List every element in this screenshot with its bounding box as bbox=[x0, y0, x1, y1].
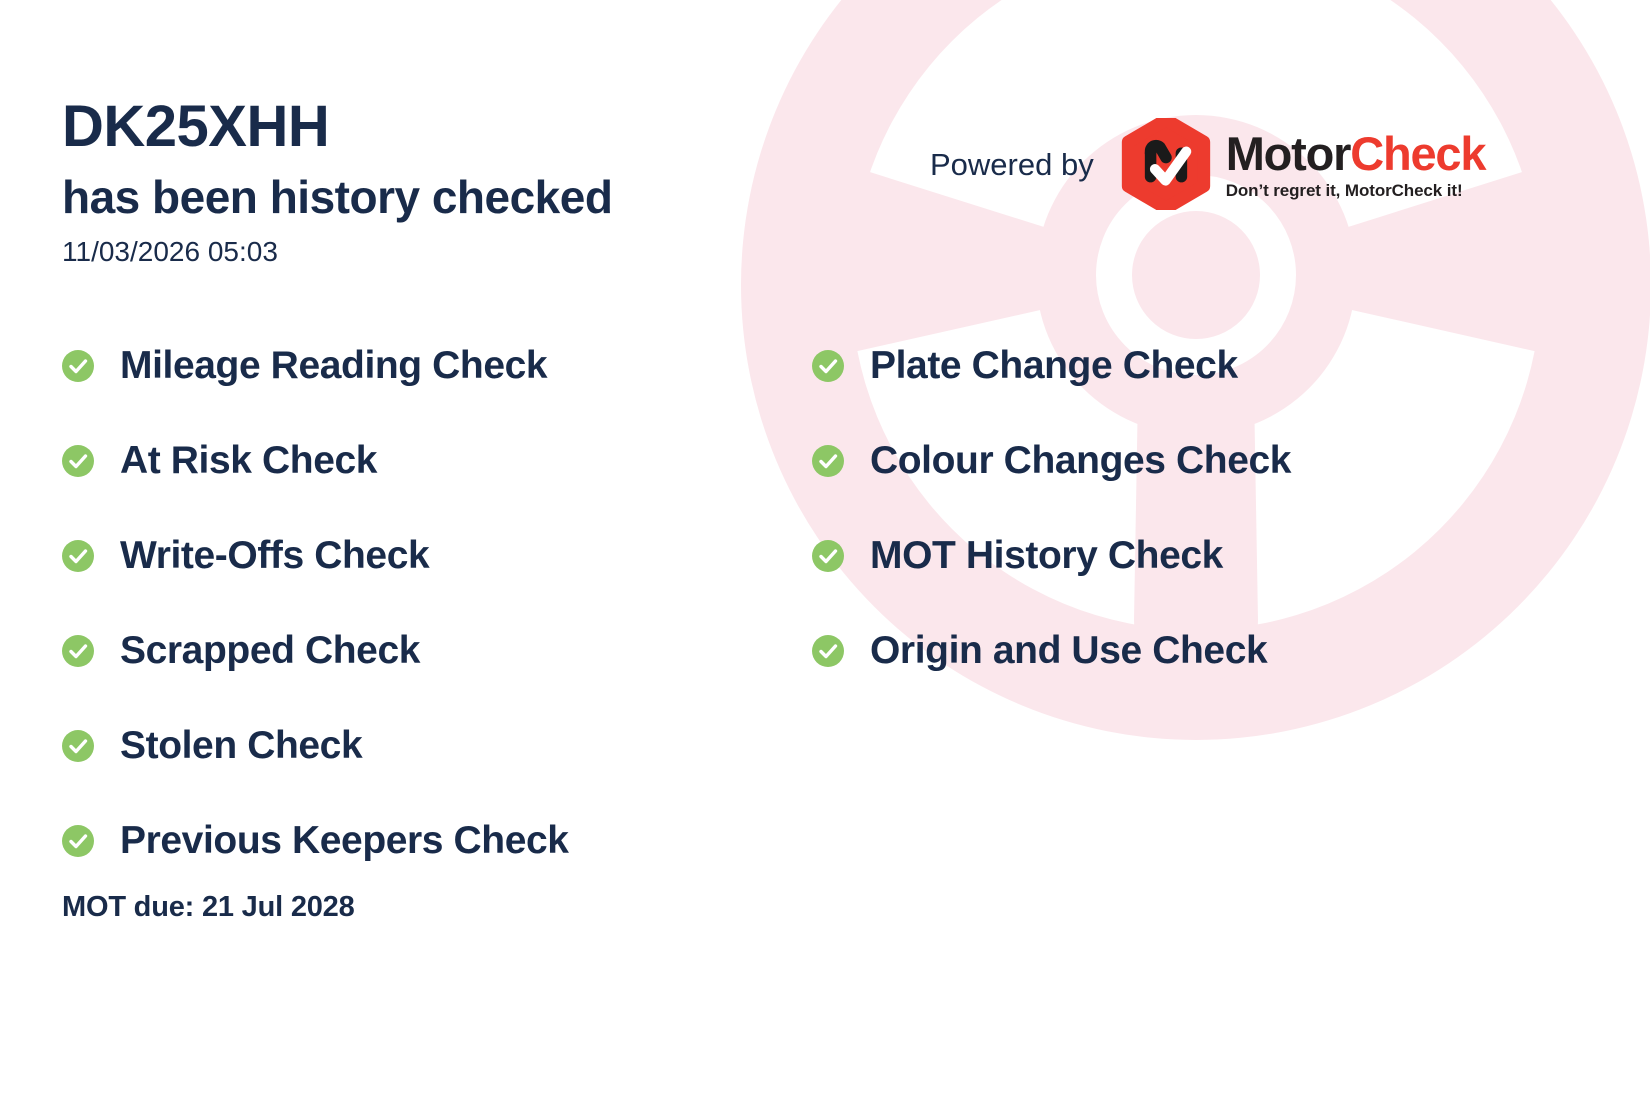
motorcheck-hexagon-icon bbox=[1120, 118, 1212, 210]
vehicle-history-check-card: DK25XHH has been history checked 11/03/2… bbox=[0, 0, 1650, 1100]
check-circle-icon bbox=[62, 730, 94, 762]
check-circle-icon bbox=[812, 540, 844, 572]
check-row: MOT History Check bbox=[812, 508, 1291, 603]
check-row: Colour Changes Check bbox=[812, 413, 1291, 508]
check-label: Write-Offs Check bbox=[120, 536, 429, 575]
check-row: Scrapped Check bbox=[62, 603, 569, 698]
check-label: Scrapped Check bbox=[120, 631, 420, 670]
check-circle-icon bbox=[62, 825, 94, 857]
check-circle-icon bbox=[62, 445, 94, 477]
check-label: At Risk Check bbox=[120, 441, 377, 480]
checks-column-right: Plate Change Check Colour Changes Check … bbox=[812, 318, 1291, 698]
powered-by-block: Powered by MotorCheck Don’t regret it, M… bbox=[930, 118, 1485, 210]
vehicle-registration-title: DK25XHH bbox=[62, 98, 329, 156]
check-label: Stolen Check bbox=[120, 726, 362, 765]
check-row: Origin and Use Check bbox=[812, 603, 1291, 698]
check-label: Mileage Reading Check bbox=[120, 346, 547, 385]
powered-by-label: Powered by bbox=[930, 149, 1094, 180]
check-row: Mileage Reading Check bbox=[62, 318, 569, 413]
check-circle-icon bbox=[812, 445, 844, 477]
motorcheck-tagline: Don’t regret it, MotorCheck it! bbox=[1226, 182, 1486, 199]
motorcheck-logo[interactable]: MotorCheck Don’t regret it, MotorCheck i… bbox=[1120, 118, 1486, 210]
history-checked-subtitle: has been history checked bbox=[62, 174, 612, 220]
check-row: Previous Keepers Check bbox=[62, 793, 569, 888]
motorcheck-wordmark: MotorCheck bbox=[1226, 130, 1486, 177]
wordmark-motor: Motor bbox=[1226, 127, 1351, 180]
check-circle-icon bbox=[812, 350, 844, 382]
check-row: Stolen Check bbox=[62, 698, 569, 793]
check-circle-icon bbox=[62, 540, 94, 572]
check-row: Write-Offs Check bbox=[62, 508, 569, 603]
check-label: Plate Change Check bbox=[870, 346, 1238, 385]
check-label: Origin and Use Check bbox=[870, 631, 1267, 670]
check-circle-icon bbox=[62, 350, 94, 382]
mot-due-date: MOT due: 21 Jul 2028 bbox=[62, 893, 355, 922]
check-label: MOT History Check bbox=[870, 536, 1223, 575]
check-timestamp: 11/03/2026 05:03 bbox=[62, 238, 278, 266]
wordmark-check: Check bbox=[1350, 127, 1485, 180]
check-circle-icon bbox=[62, 635, 94, 667]
checks-column-left: Mileage Reading Check At Risk Check Writ… bbox=[62, 318, 569, 888]
check-row: At Risk Check bbox=[62, 413, 569, 508]
check-circle-icon bbox=[812, 635, 844, 667]
check-row: Plate Change Check bbox=[812, 318, 1291, 413]
check-label: Previous Keepers Check bbox=[120, 821, 569, 860]
check-label: Colour Changes Check bbox=[870, 441, 1291, 480]
